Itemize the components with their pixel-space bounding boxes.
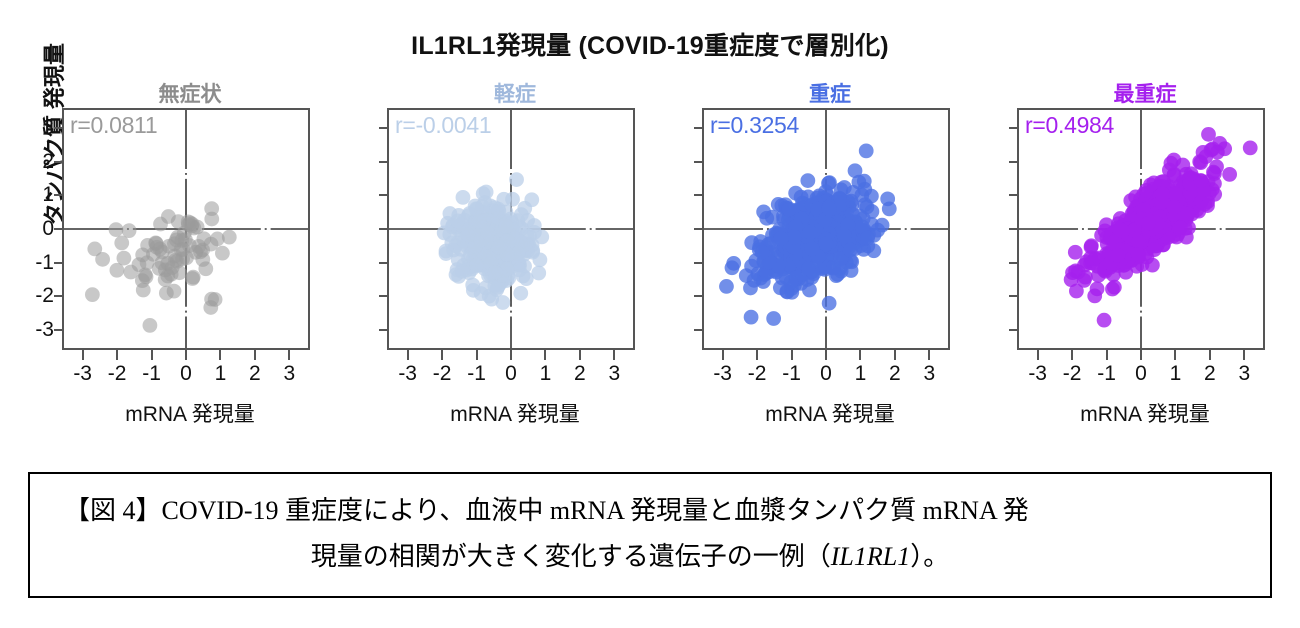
x-tick-label: -3 [73,362,92,386]
x-tick-label: 3 [923,362,935,386]
y-tick-marks [692,108,704,350]
scatter-canvas-mild [389,110,633,348]
x-tick-marks [62,350,310,362]
x-tick-labels: -3-2-10123 [702,362,950,392]
caption-line-1: 【図 4】COVID-19 重症度により、血液中 mRNA 発現量と血漿タンパク… [64,488,1236,534]
y-tick-label: 2 [42,150,54,174]
x-tick-label: 0 [1135,362,1147,386]
x-tick-labels: -3-2-10123 [387,362,635,392]
x-tick-labels: -3-2-10123 [1017,362,1265,392]
x-tick-label: 2 [249,362,261,386]
scatter-canvas-severe [704,110,948,348]
caption-line-2: 現量の相関が大きく変化する遺伝子の一例（IL1RL1）。 [64,534,1236,580]
x-tick-label: 3 [283,362,295,386]
x-tick-label: 2 [1204,362,1216,386]
plot-area-critical: r=0.4984 [1017,108,1265,350]
panel-title-asymptomatic: 無症状 [40,78,340,108]
y-tick-label: -3 [35,318,54,342]
x-tick-label: 0 [505,362,517,386]
x-tick-label: -3 [398,362,417,386]
y-tick-label: 0 [42,217,54,241]
y-tick-marks [1007,108,1019,350]
panel-title-mild: 軽症 [365,78,665,108]
x-tick-label: -3 [1028,362,1047,386]
caption-line-2-text-b: ）。 [910,542,949,571]
y-tick-label: -2 [35,284,54,308]
x-tick-labels: -3-2-10123 [62,362,310,392]
scatter-points-mild [437,172,549,310]
x-tick-label: -1 [782,362,801,386]
x-tick-label: -1 [1097,362,1116,386]
scatter-panel-mild: 軽症r=-0.0041-3-2-10123mRNA 発現量 [365,78,665,448]
figure-title: IL1RL1発現量 (COVID-19重症度で層別化) [0,26,1300,62]
x-tick-label: -1 [142,362,161,386]
x-axis-title-asymptomatic: mRNA 発現量 [40,398,340,428]
x-tick-marks [1017,350,1265,362]
x-tick-label: -3 [713,362,732,386]
plot-area-mild: r=-0.0041 [387,108,635,350]
y-tick-label: 3 [42,116,54,140]
plot-area-severe: r=0.3254 [702,108,950,350]
scatter-points-severe [719,143,897,325]
panel-title-severe: 重症 [680,78,980,108]
figure-caption-box: 【図 4】COVID-19 重症度により、血液中 mRNA 発現量と血漿タンパク… [28,472,1272,598]
x-tick-marks [702,350,950,362]
x-tick-label: 0 [820,362,832,386]
x-tick-label: 1 [215,362,227,386]
scatter-panel-critical: 最重症r=0.4984-3-2-10123mRNA 発現量 [995,78,1295,448]
caption-gene-name: IL1RL1 [831,542,910,571]
x-tick-label: -2 [108,362,127,386]
x-tick-label: -2 [433,362,452,386]
y-tick-label: 1 [42,183,54,207]
x-tick-label: 1 [1170,362,1182,386]
scatter-panel-row: 無症状r=0.08113210-1-2-3-3-2-10123mRNA 発現量軽… [40,78,1295,448]
x-tick-marks [387,350,635,362]
x-tick-label: -1 [467,362,486,386]
scatter-panel-severe: 重症r=0.3254-3-2-10123mRNA 発現量 [680,78,980,448]
scatter-panel-asymptomatic: 無症状r=0.08113210-1-2-3-3-2-10123mRNA 発現量 [40,78,340,448]
panel-title-critical: 最重症 [995,78,1295,108]
x-tick-label: 3 [1238,362,1250,386]
x-tick-label: 2 [574,362,586,386]
y-tick-label: -1 [35,251,54,275]
scatter-canvas-critical [1019,110,1263,348]
x-axis-title-severe: mRNA 発現量 [680,398,980,428]
x-axis-title-critical: mRNA 発現量 [995,398,1295,428]
x-tick-label: 0 [180,362,192,386]
caption-line-2-text-a: 現量の相関が大きく変化する遺伝子の一例（ [311,542,831,571]
y-tick-marks [377,108,389,350]
x-tick-label: 1 [540,362,552,386]
scatter-points-critical [1064,127,1258,328]
x-tick-label: -2 [1063,362,1082,386]
scatter-canvas-asymptomatic [64,110,308,348]
x-axis-title-mild: mRNA 発現量 [365,398,665,428]
scatter-points-asymptomatic [85,201,237,332]
x-tick-label: -2 [748,362,767,386]
caption-line-1-text: 【図 4】COVID-19 重症度により、血液中 mRNA 発現量と血漿タンパク… [64,496,1029,525]
x-tick-label: 2 [889,362,901,386]
plot-area-asymptomatic: r=0.0811 [62,108,310,350]
x-tick-label: 1 [855,362,867,386]
y-tick-labels: 3210-1-2-3 [14,108,54,350]
x-tick-label: 3 [608,362,620,386]
